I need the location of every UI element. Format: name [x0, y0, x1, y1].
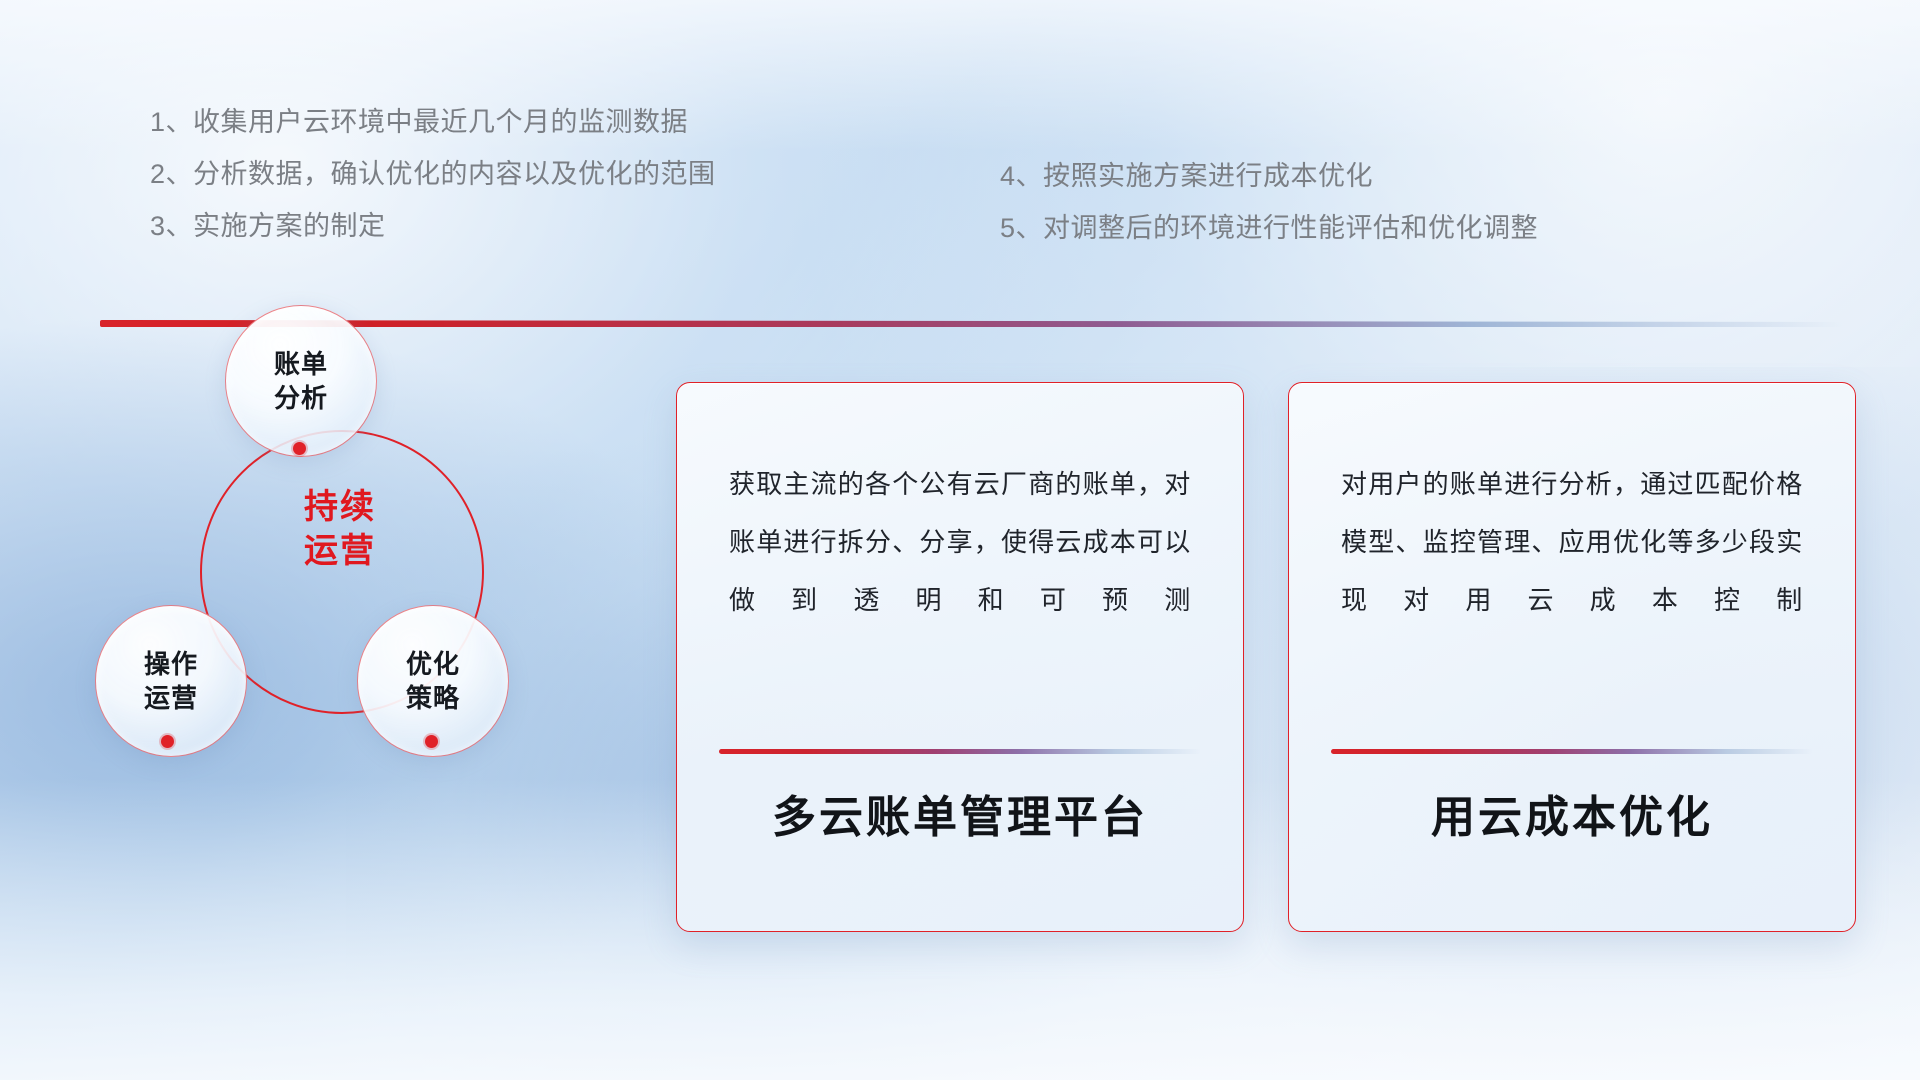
connector-dot-bottom-right	[425, 735, 438, 748]
card-2-description: 对用户的账单进行分析，通过匹配价格模型、监控管理、应用优化等多少段实现对用云成本…	[1341, 455, 1803, 629]
card-1-body: 获取主流的各个公有云厂商的账单，对账单进行拆分、分享，使得云成本可以做到透明和可…	[677, 383, 1243, 629]
card-2-title: 用云成本优化	[1289, 781, 1855, 845]
card-2-rule	[1331, 749, 1813, 754]
bubble-operations[interactable]: 操作 运营	[95, 605, 247, 757]
bubble-bill-analysis-line-1: 账单	[274, 347, 328, 381]
bullet-item-1: 1、收集用户云环境中最近几个月的监测数据	[150, 96, 716, 148]
center-label-line-2: 运营	[200, 529, 480, 573]
continuous-operation-diagram: 持续 运营 账单 分析 操作 运营 优化 策略	[95, 295, 615, 785]
card-1-description: 获取主流的各个公有云厂商的账单，对账单进行拆分、分享，使得云成本可以做到透明和可…	[729, 455, 1191, 629]
bubble-bill-analysis[interactable]: 账单 分析	[225, 305, 377, 457]
bullet-item-3: 3、实施方案的制定	[150, 200, 716, 252]
bubble-operations-line-1: 操作	[144, 647, 198, 681]
connector-dot-top	[293, 442, 306, 455]
bubble-bill-analysis-line-2: 分析	[274, 381, 328, 415]
bubble-optimization-strategy-line-1: 优化	[406, 647, 460, 681]
bullet-item-5: 5、对调整后的环境进行性能评估和优化调整	[1000, 202, 1538, 254]
center-label-line-1: 持续	[200, 485, 480, 529]
bubble-optimization-strategy-line-2: 策略	[406, 681, 460, 715]
card-1-title: 多云账单管理平台	[677, 781, 1243, 845]
card-1-rule	[719, 749, 1201, 754]
card-cloud-cost-optimization[interactable]: 对用户的账单进行分析，通过匹配价格模型、监控管理、应用优化等多少段实现对用云成本…	[1288, 382, 1856, 932]
diagram-center-label: 持续 运营	[200, 485, 480, 573]
card-2-body: 对用户的账单进行分析，通过匹配价格模型、监控管理、应用优化等多少段实现对用云成本…	[1289, 383, 1855, 629]
bullet-list-left: 1、收集用户云环境中最近几个月的监测数据 2、分析数据，确认优化的内容以及优化的…	[150, 96, 716, 252]
card-multicloud-billing-platform[interactable]: 获取主流的各个公有云厂商的账单，对账单进行拆分、分享，使得云成本可以做到透明和可…	[676, 382, 1244, 932]
bubble-operations-line-2: 运营	[144, 681, 198, 715]
bullet-item-4: 4、按照实施方案进行成本优化	[1000, 150, 1538, 202]
bullet-list-right: 4、按照实施方案进行成本优化 5、对调整后的环境进行性能评估和优化调整	[1000, 150, 1538, 254]
connector-dot-bottom-left	[161, 735, 174, 748]
bullet-item-2: 2、分析数据，确认优化的内容以及优化的范围	[150, 148, 716, 200]
